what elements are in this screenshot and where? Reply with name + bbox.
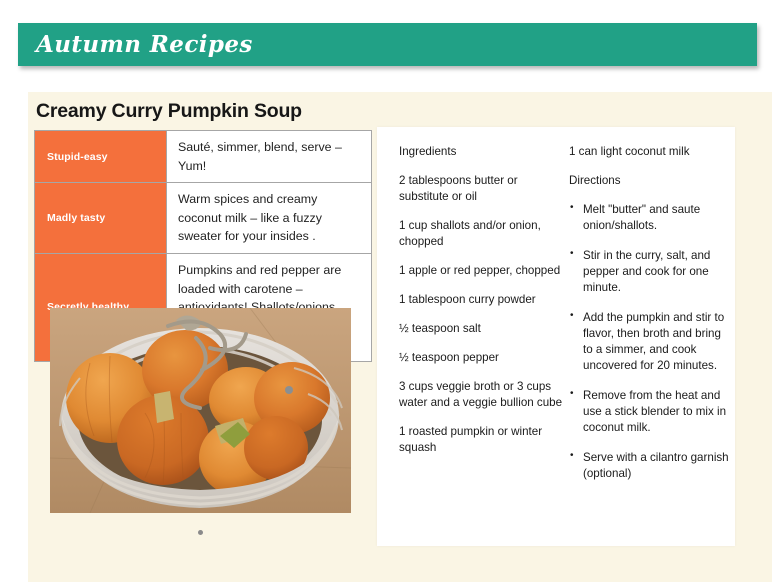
ingredient-item: 1 tablespoon curry powder (399, 292, 567, 308)
directions-heading: Directions (569, 173, 733, 189)
direction-step: Serve with a cilantro garnish (optional) (569, 450, 733, 482)
ingredients-heading: Ingredients (399, 144, 567, 160)
fact-text: Warm spices and creamy coconut milk – li… (167, 183, 372, 254)
app-title: Autumn Recipes (36, 31, 253, 58)
table-row: Madly tasty Warm spices and creamy cocon… (35, 183, 372, 254)
ingredients-column: Ingredients 2 tablespoons butter or subs… (399, 144, 567, 546)
direction-step: Remove from the heat and use a stick ble… (569, 388, 733, 436)
ingredient-item: 1 apple or red pepper, chopped (399, 263, 567, 279)
recipe-detail-panel: Ingredients 2 tablespoons butter or subs… (377, 127, 735, 546)
ingredient-item: ½ teaspoon pepper (399, 350, 567, 366)
ingredient-item: 1 can light coconut milk (569, 144, 733, 160)
fact-label: Stupid-easy (35, 131, 167, 183)
ingredient-item: 1 cup shallots and/or onion, chopped (399, 218, 567, 250)
ingredient-item: 1 roasted pumpkin or winter squash (399, 424, 567, 456)
ingredient-item: 2 tablespoons butter or substitute or oi… (399, 173, 567, 205)
fact-text: Sauté, simmer, blend, serve – Yum! (167, 131, 372, 183)
carousel-dot-1[interactable] (198, 530, 203, 535)
direction-step: Stir in the curry, salt, and pepper and … (569, 248, 733, 296)
app-header-bar: Autumn Recipes (18, 23, 757, 66)
fact-label: Madly tasty (35, 183, 167, 254)
directions-list: Melt "butter" and saute onion/shallots. … (569, 202, 733, 482)
page-title: Creamy Curry Pumpkin Soup (36, 100, 302, 123)
ingredient-item: 3 cups veggie broth or 3 cups water and … (399, 379, 567, 411)
carousel-dots[interactable] (50, 522, 351, 532)
directions-column: 1 can light coconut milk Directions Melt… (567, 144, 733, 546)
table-row: Stupid-easy Sauté, simmer, blend, serve … (35, 131, 372, 183)
pumpkin-basket-photo (50, 308, 351, 513)
recipe-content-card: Creamy Curry Pumpkin Soup Stupid-easy Sa… (28, 92, 772, 582)
direction-step: Melt "butter" and saute onion/shallots. (569, 202, 733, 234)
photo-carousel[interactable] (50, 308, 351, 532)
ingredient-item: ½ teaspoon salt (399, 321, 567, 337)
direction-step: Add the pumpkin and stir to flavor, then… (569, 310, 733, 374)
